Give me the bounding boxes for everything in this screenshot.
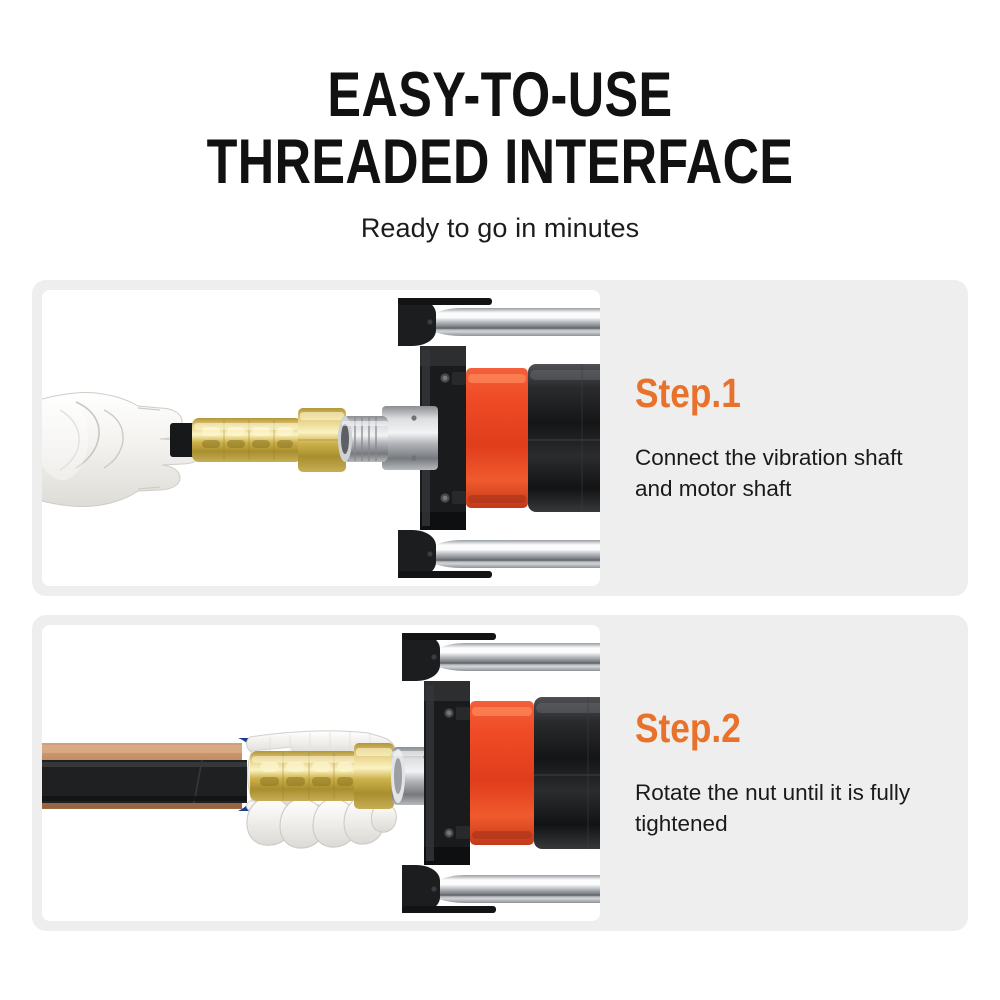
silver-threaded-motor-shaft — [338, 416, 388, 462]
step-1-label: Step.1 — [635, 372, 896, 414]
step-1-description: Connect the vibration shaft and motor sh… — [635, 442, 938, 504]
step-2-label: Step.2 — [635, 707, 896, 749]
chrome-tubular-frame-bottom — [430, 875, 600, 903]
motor-body — [528, 364, 600, 512]
page-title-line-2: THREADED INTERFACE — [100, 128, 900, 196]
orange-band — [466, 368, 528, 508]
step-2-text-block: Step.2 Rotate the nut until it is fully … — [600, 615, 968, 931]
brass-threaded-coupling — [250, 743, 394, 809]
step-1-photo — [42, 290, 600, 586]
shaft-mount-block — [382, 406, 438, 470]
step-2-illustration — [42, 625, 600, 921]
infographic-page: EASY-TO-USE THREADED INTERFACE Ready to … — [0, 0, 1000, 1000]
chrome-tubular-frame — [426, 308, 600, 336]
step-1-illustration — [42, 290, 600, 586]
motor-body — [534, 697, 600, 849]
black-rubber-hose-sleeve — [42, 760, 247, 803]
header: EASY-TO-USE THREADED INTERFACE Ready to … — [0, 0, 1000, 244]
step-2-photo — [42, 625, 600, 921]
steps-container: Step.1 Connect the vibration shaft and m… — [0, 280, 1000, 931]
step-panel-2: Step.2 Rotate the nut until it is fully … — [32, 615, 968, 931]
chrome-tubular-frame — [430, 643, 600, 671]
page-subtitle: Ready to go in minutes — [0, 213, 1000, 244]
orange-band — [470, 701, 534, 845]
page-title-line-1: EASY-TO-USE — [100, 62, 900, 128]
step-panel-1: Step.1 Connect the vibration shaft and m… — [32, 280, 968, 596]
chrome-tubular-frame-bottom — [426, 540, 600, 568]
black-motor-housing — [424, 681, 470, 865]
step-1-text-block: Step.1 Connect the vibration shaft and m… — [600, 280, 968, 596]
step-2-description: Rotate the nut until it is fully tighten… — [635, 777, 938, 839]
